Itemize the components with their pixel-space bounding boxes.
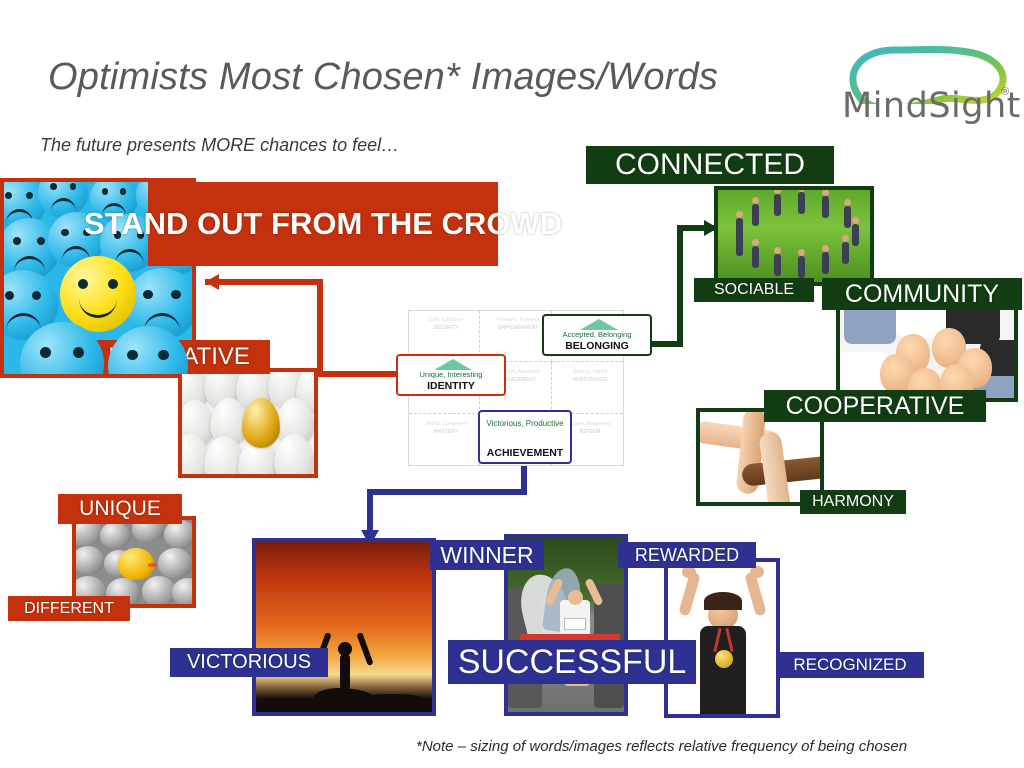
matrix-box-identity[interactable]: Unique, Interesting IDENTITY: [396, 354, 506, 396]
image-group-huddle: [836, 302, 1018, 402]
image-sunset-silhouette: [252, 538, 436, 716]
matrix-box-belonging-title: BELONGING: [544, 340, 650, 352]
matrix-cell-mastery: Skillful, Competent MASTERY: [411, 421, 481, 436]
matrix-box-identity-eyebrow: Unique, Interesting: [398, 370, 504, 379]
matrix-cell-eyebrow: Safe, Confident: [411, 317, 481, 325]
matrix-cell-title: NURTURANCE: [555, 377, 625, 385]
slide-canvas: Optimists Most Chosen* Images/Words The …: [0, 0, 1024, 768]
label-cooperative: COOPERATIVE: [764, 390, 986, 422]
matrix-cell-title: SECURITY: [411, 325, 481, 333]
label-connected: CONNECTED: [586, 146, 834, 184]
matrix-box-achievement[interactable]: Victorious, Productive ACHIEVEMENT: [478, 410, 572, 464]
image-medal-child: [664, 558, 780, 718]
label-rewarded: REWARDED: [618, 542, 756, 568]
matrix-box-achievement-title: ACHIEVEMENT: [480, 447, 570, 459]
label-harmony: HARMONY: [800, 490, 906, 514]
banner-stand-out-from-the-crowd: STAND OUT FROM THE CROWD: [148, 182, 498, 266]
medal-child-illustration: [668, 562, 776, 714]
matrix-box-belonging-eyebrow: Accepted, Belonging: [544, 330, 650, 339]
image-golden-egg: [178, 368, 318, 478]
matrix-cell-eyebrow: Skillful, Competent: [411, 421, 481, 429]
matrix-cell-title: MASTERY: [411, 429, 481, 437]
sunset-silhouette-illustration: [256, 542, 432, 712]
label-community: COMMUNITY: [822, 278, 1022, 310]
rubber-ducks-illustration: [76, 520, 192, 604]
footnote-text: *Note – sizing of words/images reflects …: [416, 738, 907, 755]
label-sociable: SOCIABLE: [694, 278, 814, 302]
matrix-cell-nurturance: Sharing, Caring NURTURANCE: [555, 369, 625, 384]
label-successful: SUCCESSFUL: [448, 640, 696, 684]
matrix-box-identity-title: IDENTITY: [398, 380, 504, 392]
label-winner: WINNER: [430, 540, 544, 570]
label-unique: UNIQUE: [58, 494, 182, 524]
four-hands-illustration: [700, 412, 820, 502]
image-people-circle: [714, 186, 874, 286]
business-group-illustration: [840, 306, 1014, 398]
label-victorious: VICTORIOUS: [170, 648, 328, 677]
label-recognized: RECOGNIZED: [776, 652, 924, 678]
golden-egg-illustration: [182, 372, 314, 474]
people-holding-hands-illustration: [718, 190, 870, 282]
matrix-box-achievement-eyebrow: Victorious, Productive: [480, 419, 570, 430]
image-rubber-ducks: [72, 516, 196, 608]
label-different: DIFFERENT: [8, 596, 130, 621]
matrix-box-belonging[interactable]: Accepted, Belonging BELONGING: [542, 314, 652, 356]
matrix-cell-security: Safe, Confident SECURITY: [411, 317, 481, 332]
matrix-cell-eyebrow: Sharing, Caring: [555, 369, 625, 377]
